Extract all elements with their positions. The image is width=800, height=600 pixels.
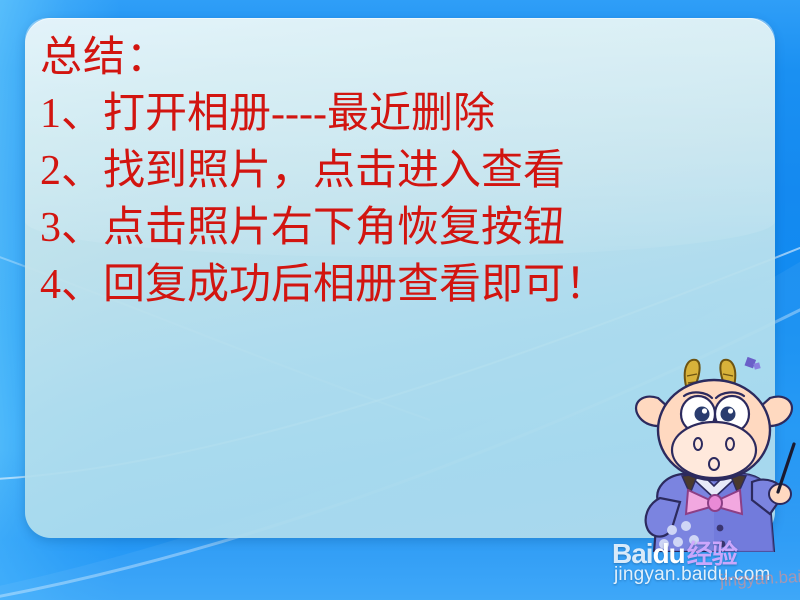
baidu-jingyan-cow-mascot-icon xyxy=(628,352,800,552)
slide-text-block: 总结： 1、打开相册----最近删除 2、找到照片，点击进入查看 3、点击照片右… xyxy=(40,30,730,314)
watermark-url: jingyan.baidu.com xyxy=(614,564,771,586)
slide-step-1: 1、打开相册----最近删除 xyxy=(40,86,730,143)
watermark-ghost-text: jingyan.baidu.cn xyxy=(720,565,800,591)
presentation-slide: 总结： 1、打开相册----最近删除 2、找到照片，点击进入查看 3、点击照片右… xyxy=(0,0,800,600)
sparkle-icon xyxy=(745,357,761,370)
slide-step-4: 4、回复成功后相册查看即可！ xyxy=(40,257,730,314)
slide-title: 总结： xyxy=(40,30,730,86)
slide-step-2: 2、找到照片，点击进入查看 xyxy=(40,143,730,200)
slide-step-3: 3、点击照片右下角恢复按钮 xyxy=(40,200,730,257)
